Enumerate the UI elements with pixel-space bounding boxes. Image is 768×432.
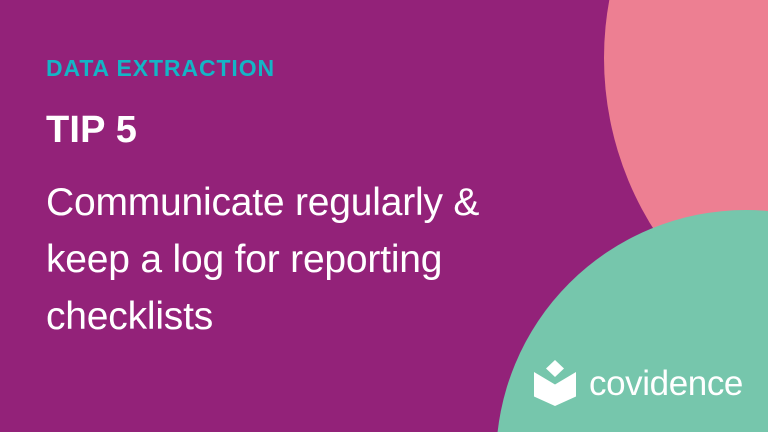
pink-circle-shape [604, 0, 768, 378]
headline-line-2: keep a log for reporting [46, 231, 606, 288]
covidence-logo: covidence [534, 360, 743, 406]
tip-number-label: TIP 5 [46, 111, 137, 149]
headline-line-1: Communicate regularly & [46, 174, 606, 231]
covidence-wordmark: covidence [589, 366, 743, 401]
text-content-block: DATA EXTRACTION TIP 5 Communicate regula… [46, 0, 606, 432]
open-book-diamond-icon [534, 360, 576, 406]
headline: Communicate regularly & keep a log for r… [46, 174, 606, 345]
slide-canvas: DATA EXTRACTION TIP 5 Communicate regula… [0, 0, 768, 432]
headline-line-3: checklists [46, 288, 606, 345]
category-eyebrow: DATA EXTRACTION [46, 57, 275, 80]
